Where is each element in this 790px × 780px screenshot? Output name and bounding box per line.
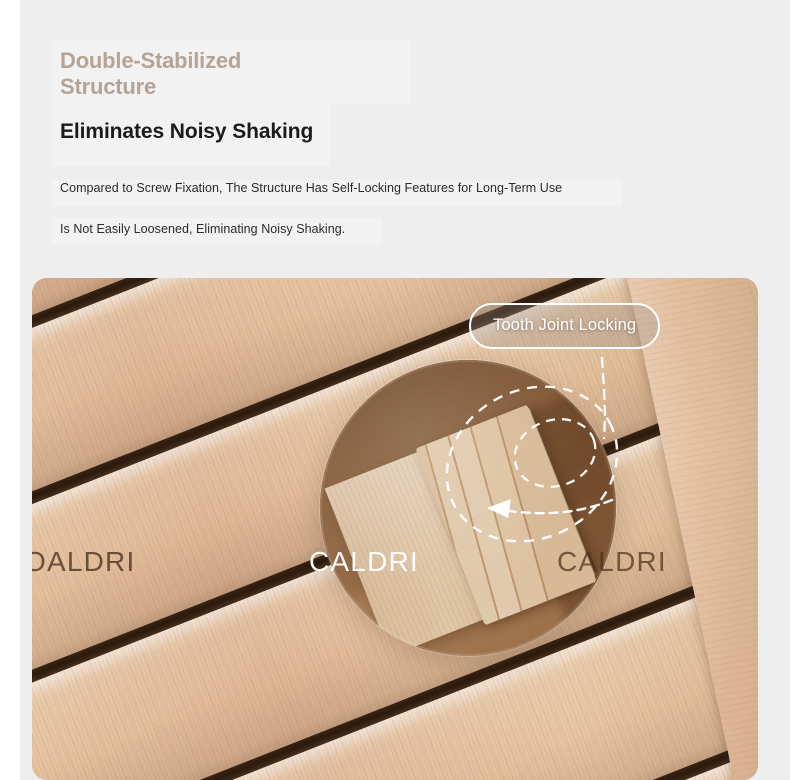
magnifier-lens: [320, 360, 616, 656]
eyebrow-heading: Double-Stabilized Structure: [60, 48, 330, 99]
feature-text-block: Double-Stabilized Structure Eliminates N…: [60, 48, 720, 238]
body-line-2: Is Not Easily Loosened, Eliminating Nois…: [60, 221, 720, 238]
page-title: Eliminates Noisy Shaking: [60, 119, 720, 144]
callout-pill-tooth-joint-locking[interactable]: Tooth Joint Locking: [469, 303, 660, 349]
product-photo-card: Tooth Joint Locking OALDRI CALDRI CALDRI: [32, 278, 758, 780]
body-copy: Compared to Screw Fixation, The Structur…: [60, 180, 720, 238]
lens-glass-overlay: [320, 360, 616, 656]
body-line-1: Compared to Screw Fixation, The Structur…: [60, 180, 720, 197]
